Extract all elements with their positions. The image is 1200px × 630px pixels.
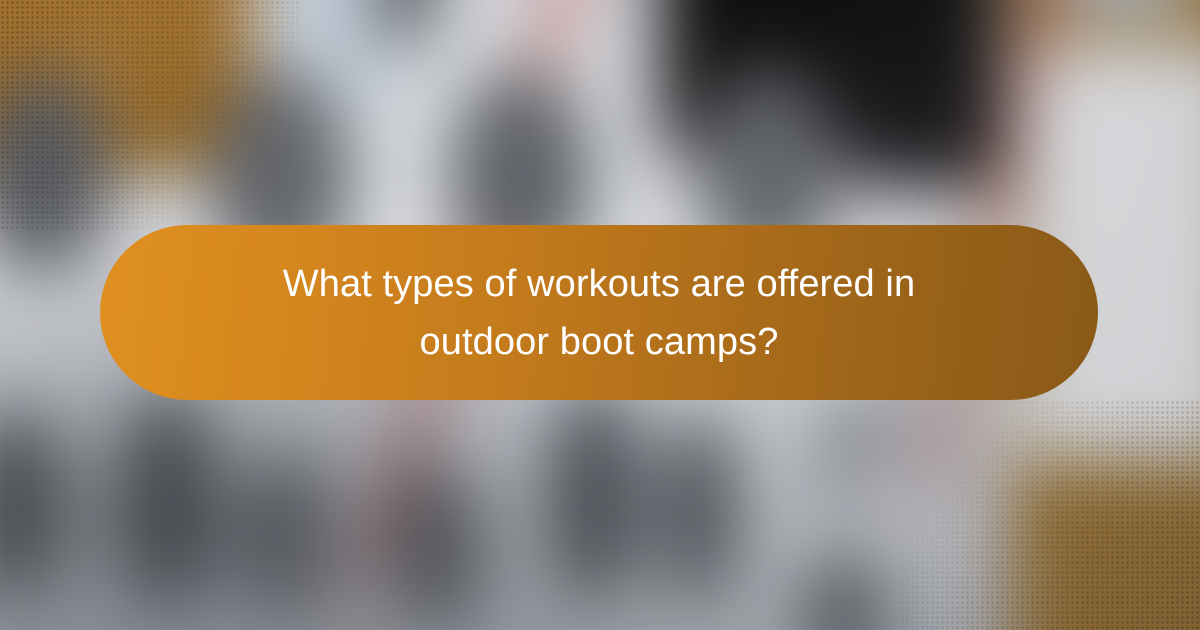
question-card-canvas: What types of workouts are offered in ou… — [0, 0, 1200, 630]
question-pill: What types of workouts are offered in ou… — [100, 225, 1098, 400]
question-text: What types of workouts are offered in ou… — [249, 255, 949, 371]
